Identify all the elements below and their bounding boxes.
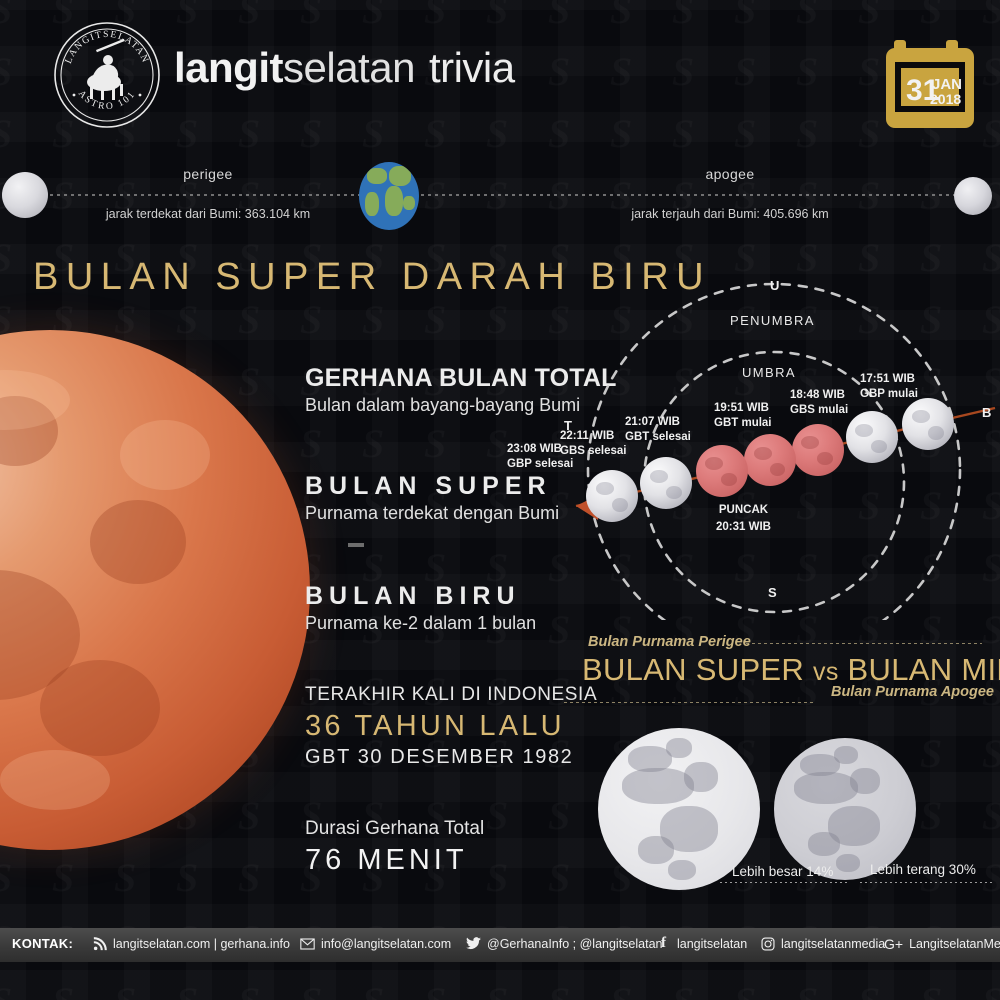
- caption-lebih-terang: Lebih terang 30%: [870, 862, 976, 877]
- peak-label: PUNCAK20:31 WIB: [716, 502, 771, 537]
- phase-label-3: 19:51 WIBGBT mulai: [714, 401, 772, 431]
- calendar-icon: 31 JAN 2018: [884, 32, 976, 132]
- compare-top-label: Bulan Purnama Perigee: [588, 634, 751, 650]
- penumbra-label: PENUMBRA: [730, 313, 815, 328]
- footer-item-twitter[interactable]: @GerhanaInfo ; @langitselatan: [466, 936, 662, 951]
- phase-moon-7: [586, 470, 638, 522]
- infographic-canvas: SSSSSSSSSSSSSSSSSSSSSSSSSSSSSSSSSSSSSSSS…: [0, 0, 1000, 1000]
- history-line-1: TERAKHIR KALI DI INDONESIA: [305, 684, 597, 706]
- compare-dotted-line-top: [746, 643, 982, 644]
- langitselatan-logo-icon: LANGITSELATAN ASTRO 101: [52, 20, 162, 130]
- compare-title-right: BULAN MINI: [848, 652, 1000, 687]
- twitter-icon: [466, 936, 481, 951]
- compare-title: BULAN SUPER vs BULAN MINI: [582, 652, 1000, 688]
- footer-item-label: @GerhanaInfo ; @langitselatan: [487, 937, 662, 951]
- caption-line-right: [860, 882, 994, 883]
- umbra-label: UMBRA: [742, 365, 796, 380]
- header: LANGITSELATAN ASTRO 101: [0, 0, 1000, 150]
- fact-sub: Purnama ke-2 dalam 1 bulan: [305, 613, 536, 634]
- fact-sub: Purnama terdekat dengan Bumi: [305, 503, 559, 524]
- duration-label: Durasi Gerhana Total: [305, 818, 484, 840]
- google-plus-icon: G+: [884, 936, 903, 951]
- caption-lebih-besar: Lebih besar 14%: [732, 864, 833, 879]
- fact-bulan-super: BULAN SUPER Purnama terdekat dengan Bumi: [305, 472, 559, 524]
- fact-heading: BULAN SUPER: [305, 472, 559, 501]
- phase-label-6: 23:08 WIBGBP selesai: [507, 442, 573, 472]
- phase-label-2: 18:48 WIBGBS mulai: [790, 388, 848, 418]
- footer-item-googleplus[interactable]: G+ LangitselatanMedia: [884, 936, 1000, 951]
- phase-moon-2: [846, 411, 898, 463]
- perigee-moon-icon: [2, 172, 48, 218]
- footer-item-email[interactable]: info@langitselatan.com: [300, 936, 451, 951]
- footer-item-instagram[interactable]: langitselatanmedia: [760, 936, 885, 951]
- history-block: TERAKHIR KALI DI INDONESIA 36 TAHUN LALU…: [305, 684, 597, 769]
- phase-moon-4: [744, 434, 796, 486]
- axis-label-u: U: [770, 278, 780, 293]
- phase-moon-5: [696, 445, 748, 497]
- axis-label-s: S: [768, 585, 777, 600]
- phase-label-1: 17:51 WIBGBP mulai: [860, 372, 918, 402]
- brand-light: selatan: [283, 44, 415, 91]
- email-icon: [300, 936, 315, 951]
- history-line-3: GBT 30 DESEMBER 1982: [305, 746, 597, 769]
- phase-moon-1: [902, 398, 954, 450]
- axis-label-t: T: [564, 418, 572, 433]
- footer-item-facebook[interactable]: f langitselatan: [656, 936, 747, 951]
- mini-moon-icon: [774, 738, 916, 880]
- perigee-label: perigee: [118, 166, 298, 182]
- phase-moon-6: [640, 457, 692, 509]
- axis-label-b: B: [982, 405, 992, 420]
- kontak-label: KONTAK:: [12, 936, 73, 951]
- footer-item-website[interactable]: langitselatan.com | gerhana.info: [92, 936, 290, 951]
- instagram-icon: [760, 936, 775, 951]
- fact-heading: BULAN BIRU: [305, 582, 536, 611]
- compare-title-left: BULAN SUPER: [582, 652, 804, 687]
- footer-item-label: langitselatan.com | gerhana.info: [113, 937, 290, 951]
- apogee-label: apogee: [640, 166, 820, 182]
- fact-bulan-biru: BULAN BIRU Purnama ke-2 dalam 1 bulan: [305, 582, 536, 634]
- compare-title-vs: vs: [813, 658, 839, 686]
- eclipse-path-diagram: 17:51 WIBGBP mulai 18:48 WIBGBS mulai 19…: [540, 270, 1000, 620]
- facebook-icon: f: [656, 936, 671, 951]
- orbit-distance-band: perigee jarak terdekat dari Bumi: 363.10…: [0, 150, 1000, 242]
- compare-dotted-line-bottom: [564, 702, 814, 703]
- footer-item-label: info@langitselatan.com: [321, 937, 451, 951]
- brand-bold: langit: [174, 44, 283, 91]
- compare-bottom-label: Bulan Purnama Apogee: [831, 684, 994, 700]
- divider-dash: [348, 543, 364, 547]
- calendar-year: 2018: [930, 91, 961, 107]
- super-vs-mini-section: Bulan Purnama Perigee BULAN SUPER vs BUL…: [560, 630, 1000, 900]
- apogee-distance: jarak terjauh dari Bumi: 405.696 km: [570, 207, 890, 221]
- caption-line-left: [720, 882, 850, 883]
- duration-block: Durasi Gerhana Total 76 MENIT: [305, 818, 484, 877]
- history-line-2: 36 TAHUN LALU: [305, 710, 597, 743]
- footer-item-label: langitselatan: [677, 937, 747, 951]
- footer-item-label: LangitselatanMedia: [909, 937, 1000, 951]
- rss-icon: [92, 936, 107, 951]
- phase-label-4: 21:07 WIBGBT selesai: [625, 415, 691, 445]
- svg-text:ASTRO 101: ASTRO 101: [76, 88, 138, 112]
- perigee-distance: jarak terdekat dari Bumi: 363.104 km: [58, 207, 358, 221]
- apogee-moon-icon: [954, 177, 992, 215]
- brand-title: langitselatantrivia: [174, 44, 515, 92]
- brand-word: trivia: [429, 44, 515, 91]
- phase-moon-3: [792, 424, 844, 476]
- footer-item-label: langitselatanmedia: [781, 937, 885, 951]
- orbit-dotted-line: [22, 194, 978, 196]
- duration-value: 76 MENIT: [305, 844, 484, 877]
- earth-globe-icon: [359, 162, 419, 230]
